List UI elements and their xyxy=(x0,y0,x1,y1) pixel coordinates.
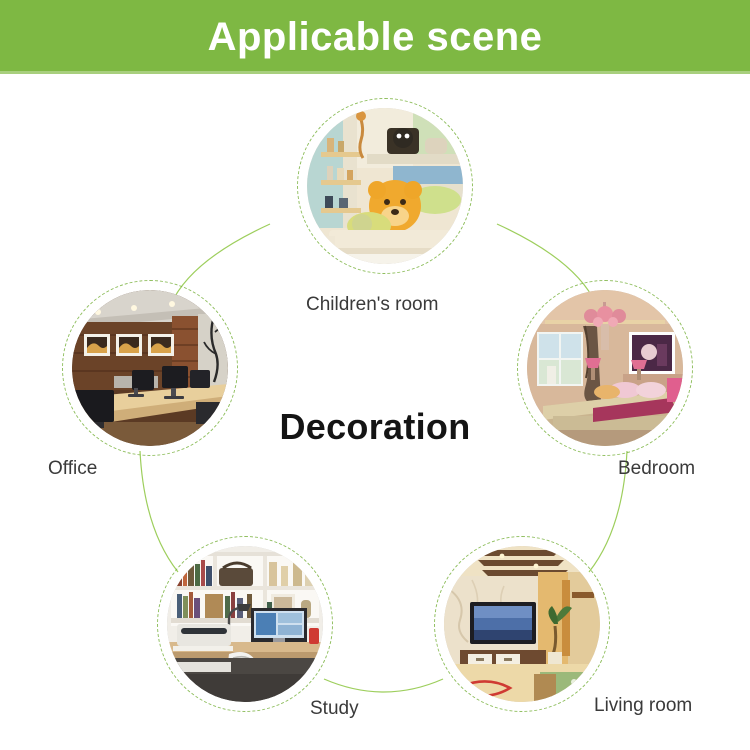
scene-label-bedroom: Bedroom xyxy=(618,459,695,478)
applicable-scene-diagram: Children's room xyxy=(0,74,750,750)
scene-node-study[interactable] xyxy=(157,536,333,712)
scene-label-living-room: Living room xyxy=(594,696,692,715)
living-room-photo xyxy=(444,546,600,702)
scene-label-study: Study xyxy=(310,699,359,718)
scene-node-living-room[interactable] xyxy=(434,536,610,712)
page-title: Applicable scene xyxy=(208,17,543,57)
study-photo xyxy=(167,546,323,702)
scene-label-children-room: Children's room xyxy=(306,295,438,314)
diagram-center-label: Decoration xyxy=(0,406,750,448)
scene-label-office: Office xyxy=(48,459,97,478)
children-room-photo xyxy=(307,108,463,264)
header-banner: Applicable scene xyxy=(0,0,750,74)
scene-node-children-room[interactable] xyxy=(297,98,473,274)
